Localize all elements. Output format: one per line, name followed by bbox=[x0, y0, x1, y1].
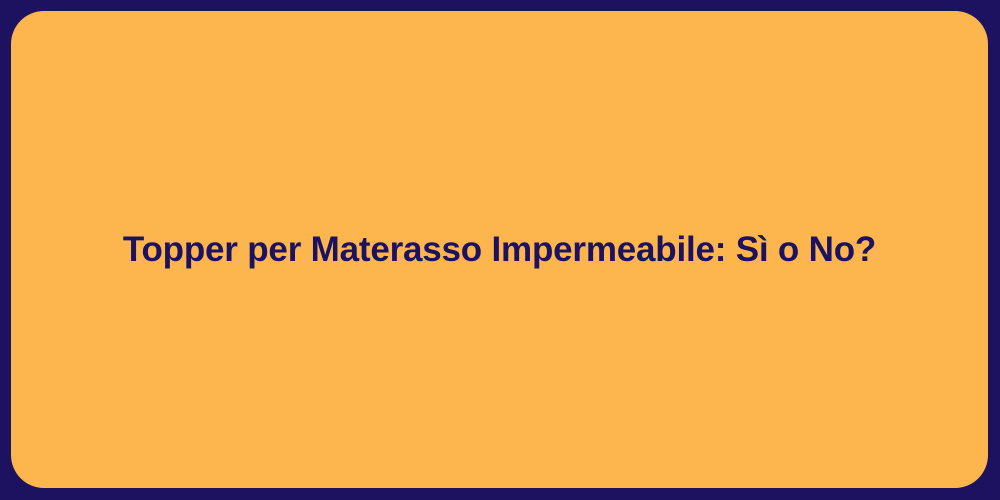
banner-frame: Topper per Materasso Impermeabile: Sì o … bbox=[0, 0, 1000, 500]
banner-title: Topper per Materasso Impermeabile: Sì o … bbox=[83, 228, 916, 272]
banner-card: Topper per Materasso Impermeabile: Sì o … bbox=[11, 11, 988, 488]
